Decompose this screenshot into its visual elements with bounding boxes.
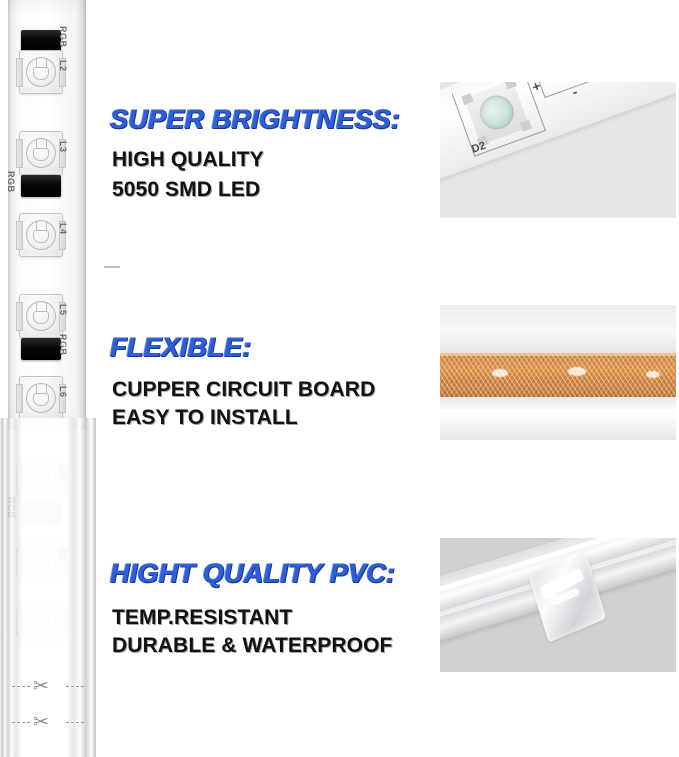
led-package-last [19, 600, 63, 644]
feature-body-line-2: EASY TO INSTALL [112, 404, 298, 431]
led-dome [26, 301, 56, 331]
sleeve-gloss-line [440, 409, 676, 413]
led-corner-pad [461, 93, 473, 105]
feature-body-line-1: TEMP.RESISTANT [112, 604, 292, 631]
led-package-l5 [19, 294, 63, 338]
feature-body-line-1: HIGH QUALITY [112, 146, 264, 173]
cut-dash-left [12, 722, 30, 723]
photo-led-closeup: R11 D2 + - [440, 82, 676, 218]
copper-highlight-blob [646, 371, 660, 378]
strip-label-l3: L3 [58, 141, 68, 153]
led-pad-left [16, 139, 23, 168]
divider-tick [104, 266, 120, 268]
photo-copper-board [440, 305, 676, 440]
strip-label-l7: L7 [58, 467, 68, 479]
copper-highlight-blob [492, 369, 508, 377]
scissors-icon: ✂ [33, 712, 49, 734]
led-pad-left [16, 221, 23, 250]
scissors-icon: ✂ [33, 676, 49, 698]
led-dome [26, 57, 56, 87]
cut-dash-left [12, 686, 30, 687]
led-package-l6 [19, 376, 63, 420]
feature-heading-pvc: HIGHT QUALITY PVC: [110, 558, 395, 588]
feature-body-line-1: CUPPER CIRCUIT BOARD [112, 376, 375, 403]
cut-line-marker: ✂ [12, 674, 84, 700]
copper-highlight-blob [568, 367, 586, 376]
strip-label-rgb: RGB [6, 171, 16, 193]
led-phosphor-lens [475, 91, 519, 135]
copper-circuit-board [440, 353, 676, 397]
feature-body-line-2: DURABLE & WATERPROOF [112, 632, 392, 659]
rgb-driver-chip [21, 30, 61, 52]
led-corner-pad [504, 82, 516, 89]
feature-heading-flexible: FLEXIBLE: [110, 332, 251, 362]
cut-dash-right [66, 722, 84, 723]
strip-label-rgb: RGB [6, 497, 16, 519]
led-dome [26, 220, 56, 250]
rgb-driver-chip [21, 501, 61, 523]
strip-label-l6: L6 [58, 386, 68, 398]
copper-edge-highlight [440, 353, 676, 356]
rgb-driver-chip [21, 175, 61, 197]
strip-label-rgb: RGB [58, 334, 68, 356]
strip-label-l2: L2 [58, 60, 68, 72]
led-pad-left [16, 384, 23, 413]
led-dome [26, 546, 56, 576]
led-dome [26, 464, 56, 494]
feature-heading-super-brightness: SUPER BRIGHTNESS: [110, 104, 400, 134]
cut-line-marker: ✂ [12, 710, 84, 736]
strip-label-rgb: RGB [58, 26, 68, 48]
led-pad-left [16, 608, 23, 637]
led-package-l7 [19, 457, 63, 501]
led-pad-left [16, 302, 23, 331]
pvc-sleeve-upper [440, 305, 676, 353]
strip-label-l4: L4 [58, 223, 68, 235]
led-package-l3 [19, 131, 63, 175]
rgb-driver-chip [21, 338, 61, 360]
led-package-l2 [19, 50, 63, 94]
cut-dash-right [66, 686, 84, 687]
pcb-board: R11 D2 + - [440, 82, 676, 183]
feature-body-line-2: 5050 SMD LED [112, 176, 260, 203]
photo-pvc-tube [440, 538, 676, 672]
led-pad-left [16, 547, 23, 576]
led-strip-column: RGB L2 L3 RGB L4 L5 RGB L6 L7 RGB [0, 0, 100, 757]
led-pad-left [16, 58, 23, 87]
strip-label-l5: L5 [58, 304, 68, 316]
led-pad-left [16, 465, 23, 494]
strip-label-l8: L8 [58, 549, 68, 561]
led-package-l4 [19, 213, 63, 257]
pvc-sleeve-lower [440, 397, 676, 440]
led-dome [26, 383, 56, 413]
led-dome [26, 607, 56, 637]
led-package-l8 [19, 539, 63, 583]
led-pad-right [59, 608, 66, 637]
led-dome [26, 138, 56, 168]
